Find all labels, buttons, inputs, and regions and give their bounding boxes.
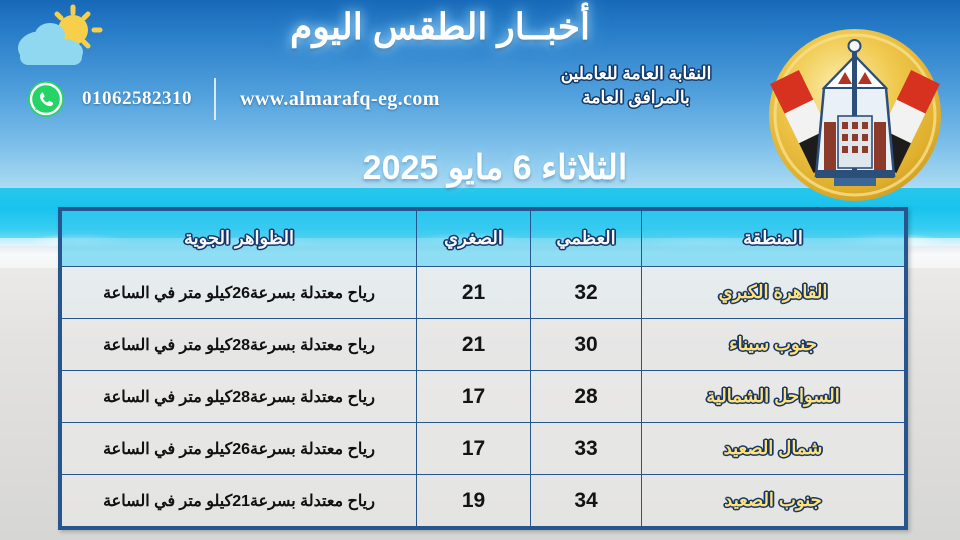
- table-row: السواحل الشمالية 28 17 رياح معتدلة بسرعة…: [62, 371, 905, 423]
- cell-region: السواحل الشمالية: [642, 371, 905, 423]
- column-header-max: العظمي: [531, 211, 642, 267]
- cell-max: 30: [531, 319, 642, 371]
- cell-region: جنوب الصعيد: [642, 475, 905, 527]
- cell-max: 33: [531, 423, 642, 475]
- cell-max: 28: [531, 371, 642, 423]
- union-name-line1: النقابة العامة للعاملين: [505, 62, 767, 86]
- cell-conditions: رياح معتدلة بسرعة28كيلو متر في الساعة: [62, 371, 417, 423]
- cell-min: 17: [417, 371, 531, 423]
- contact-divider: [214, 78, 216, 120]
- contact-row: 01062582310 www.almarafq-eg.com: [26, 78, 440, 120]
- union-name: النقابة العامة للعاملين بالمرافق العامة: [505, 62, 767, 110]
- cell-conditions: رياح معتدلة بسرعة26كيلو متر في الساعة: [62, 267, 417, 319]
- phone-number[interactable]: 01062582310: [76, 88, 204, 110]
- column-header-max-label: العظمي: [556, 228, 615, 248]
- table-row: جنوب الصعيد 34 19 رياح معتدلة بسرعة21كيل…: [62, 475, 905, 527]
- column-header-conditions: الظواهر الجوية: [62, 211, 417, 267]
- cell-min: 19: [417, 475, 531, 527]
- cell-region: القاهرة الكبري: [642, 267, 905, 319]
- cell-min: 17: [417, 423, 531, 475]
- table-row: شمال الصعيد 33 17 رياح معتدلة بسرعة26كيل…: [62, 423, 905, 475]
- column-header-conditions-label: الظواهر الجوية: [184, 228, 294, 248]
- report-date: الثلاثاء 6 مايو 2025: [300, 148, 690, 188]
- table-row: جنوب سيناء 30 21 رياح معتدلة بسرعة28كيلو…: [62, 319, 905, 371]
- cell-region: جنوب سيناء: [642, 319, 905, 371]
- table-header-row: المنطقة العظمي الصغري الظواهر الجوية: [62, 211, 905, 267]
- column-header-min-label: الصغري: [444, 228, 503, 248]
- column-header-min: الصغري: [417, 211, 531, 267]
- cell-conditions: رياح معتدلة بسرعة26كيلو متر في الساعة: [62, 423, 417, 475]
- column-header-region-label: المنطقة: [743, 228, 803, 248]
- cell-max: 32: [531, 267, 642, 319]
- table-row: القاهرة الكبري 32 21 رياح معتدلة بسرعة26…: [62, 267, 905, 319]
- cell-min: 21: [417, 267, 531, 319]
- weather-table: المنطقة العظمي الصغري الظواهر الجوية الق…: [58, 207, 908, 530]
- cell-conditions: رياح معتدلة بسرعة21كيلو متر في الساعة: [62, 475, 417, 527]
- union-emblem-logo: [766, 26, 944, 204]
- page-title: أخبــار الطقس اليوم: [230, 6, 650, 48]
- cell-conditions: رياح معتدلة بسرعة28كيلو متر في الساعة: [62, 319, 417, 371]
- union-name-line2: بالمرافق العامة: [505, 86, 767, 110]
- cell-max: 34: [531, 475, 642, 527]
- weather-report-poster: 01062582310 www.almarafq-eg.com أخبــار …: [0, 0, 960, 540]
- whatsapp-icon: [26, 79, 66, 119]
- column-header-region: المنطقة: [642, 211, 905, 267]
- website-url[interactable]: www.almarafq-eg.com: [226, 88, 440, 111]
- sun-behind-cloud-icon: [12, 4, 108, 70]
- cell-min: 21: [417, 319, 531, 371]
- cell-region: شمال الصعيد: [642, 423, 905, 475]
